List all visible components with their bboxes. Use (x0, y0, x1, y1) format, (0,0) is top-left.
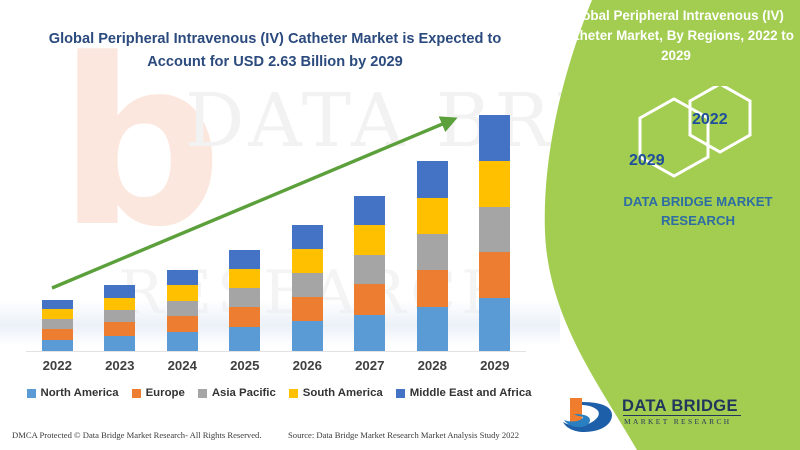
legend-label: South America (303, 387, 383, 399)
x-axis-label-2024: 2024 (151, 358, 213, 380)
footer-copyright: DMCA Protected © Data Bridge Market Rese… (12, 430, 262, 440)
legend-item-south-america[interactable]: South America (289, 387, 383, 399)
legend-swatch-icon (132, 389, 141, 398)
legend-item-middle-east-and-africa[interactable]: Middle East and Africa (396, 387, 532, 399)
legend-label: Middle East and Africa (410, 387, 532, 399)
legend-label: Asia Pacific (212, 387, 276, 399)
legend-item-north-america[interactable]: North America (27, 387, 119, 399)
chart-legend: North AmericaEuropeAsia PacificSouth Ame… (24, 387, 534, 399)
legend-swatch-icon (396, 389, 405, 398)
legend-swatch-icon (27, 389, 36, 398)
x-axis-label-2029: 2029 (464, 358, 526, 380)
x-axis-label-2028: 2028 (401, 358, 463, 380)
logo-sub-text: MARKET RESEARCH (624, 417, 732, 426)
x-axis-label-2022: 2022 (26, 358, 88, 380)
infographic-root: b DATA BRIDGE RESEARCH Global Peripheral… (0, 0, 800, 450)
x-axis-label-2026: 2026 (276, 358, 338, 380)
logo-mark-icon (560, 394, 620, 438)
legend-swatch-icon (289, 389, 298, 398)
legend-swatch-icon (198, 389, 207, 398)
data-bridge-logo: DATA BRIDGE MARKET RESEARCH (560, 394, 770, 438)
x-axis-label-2025: 2025 (214, 358, 276, 380)
footer-source: Source: Data Bridge Market Research Mark… (288, 430, 519, 440)
x-axis-labels: 20222023202420252026202720282029 (26, 358, 526, 380)
logo-divider (623, 415, 741, 416)
legend-item-asia-pacific[interactable]: Asia Pacific (198, 387, 276, 399)
trend-arrow (0, 0, 800, 450)
legend-label: Europe (146, 387, 185, 399)
x-axis-label-2023: 2023 (89, 358, 151, 380)
logo-main-text: DATA BRIDGE (622, 397, 738, 416)
x-axis-label-2027: 2027 (339, 358, 401, 380)
legend-item-europe[interactable]: Europe (132, 387, 185, 399)
legend-label: North America (41, 387, 119, 399)
